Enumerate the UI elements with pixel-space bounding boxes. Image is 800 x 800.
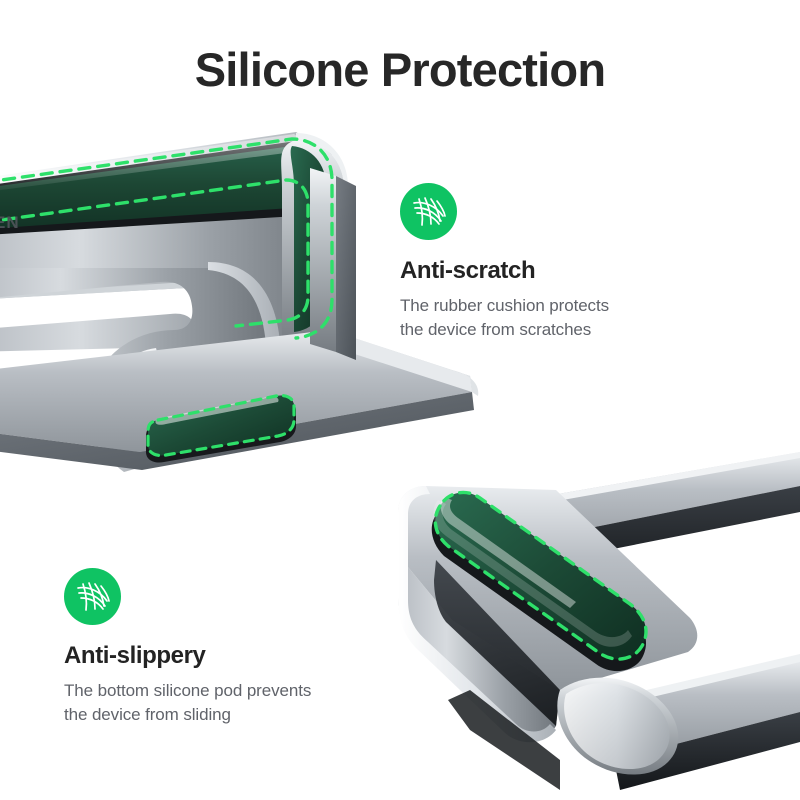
stand-rear-rib: [310, 168, 356, 360]
dashed-highlight-channel-rail: [0, 139, 332, 338]
brand-mark-text: EN: [0, 213, 20, 232]
stand-panel-right-end: [281, 133, 348, 344]
feature-title: Anti-slippery: [64, 642, 311, 670]
stand-base-plate: [0, 330, 478, 470]
stand-front-leg: [0, 262, 281, 472]
feature-body-line-2: the device from scratches: [400, 318, 609, 343]
dashed-highlight-long-pad: [435, 492, 646, 659]
stand-inner-arch: [0, 282, 244, 392]
product-feature-graphic: EN: [0, 0, 800, 800]
silicone-long-pad: [432, 492, 646, 671]
scratch-lines-icon: [64, 568, 121, 625]
silicone-foot-pad: [146, 395, 296, 462]
closeup-main-body: [398, 486, 697, 790]
feature-body-line-1: The rubber cushion protects: [400, 294, 609, 319]
scratch-lines-icon: [400, 183, 457, 240]
feature-body: The rubber cushion protects the device f…: [400, 294, 609, 343]
page-title: Silicone Protection: [0, 44, 800, 96]
stand-closeup-lower-right-image: [398, 452, 800, 790]
stand-vertical-panel: [0, 132, 336, 352]
feature-anti-scratch: Anti-scratch The rubber cushion protects…: [400, 183, 609, 343]
feature-anti-slippery: Anti-slippery The bottom silicone pod pr…: [64, 568, 311, 728]
feature-body-line-1: The bottom silicone pod prevents: [64, 679, 311, 704]
feature-body: The bottom silicone pod prevents the dev…: [64, 679, 311, 728]
feature-body-line-2: the device from sliding: [64, 703, 311, 728]
dashed-highlight-foot-pad: [148, 395, 294, 455]
feature-title: Anti-scratch: [400, 257, 609, 285]
closeup-lower-arm: [600, 654, 800, 790]
closeup-top-arm: [408, 452, 800, 584]
